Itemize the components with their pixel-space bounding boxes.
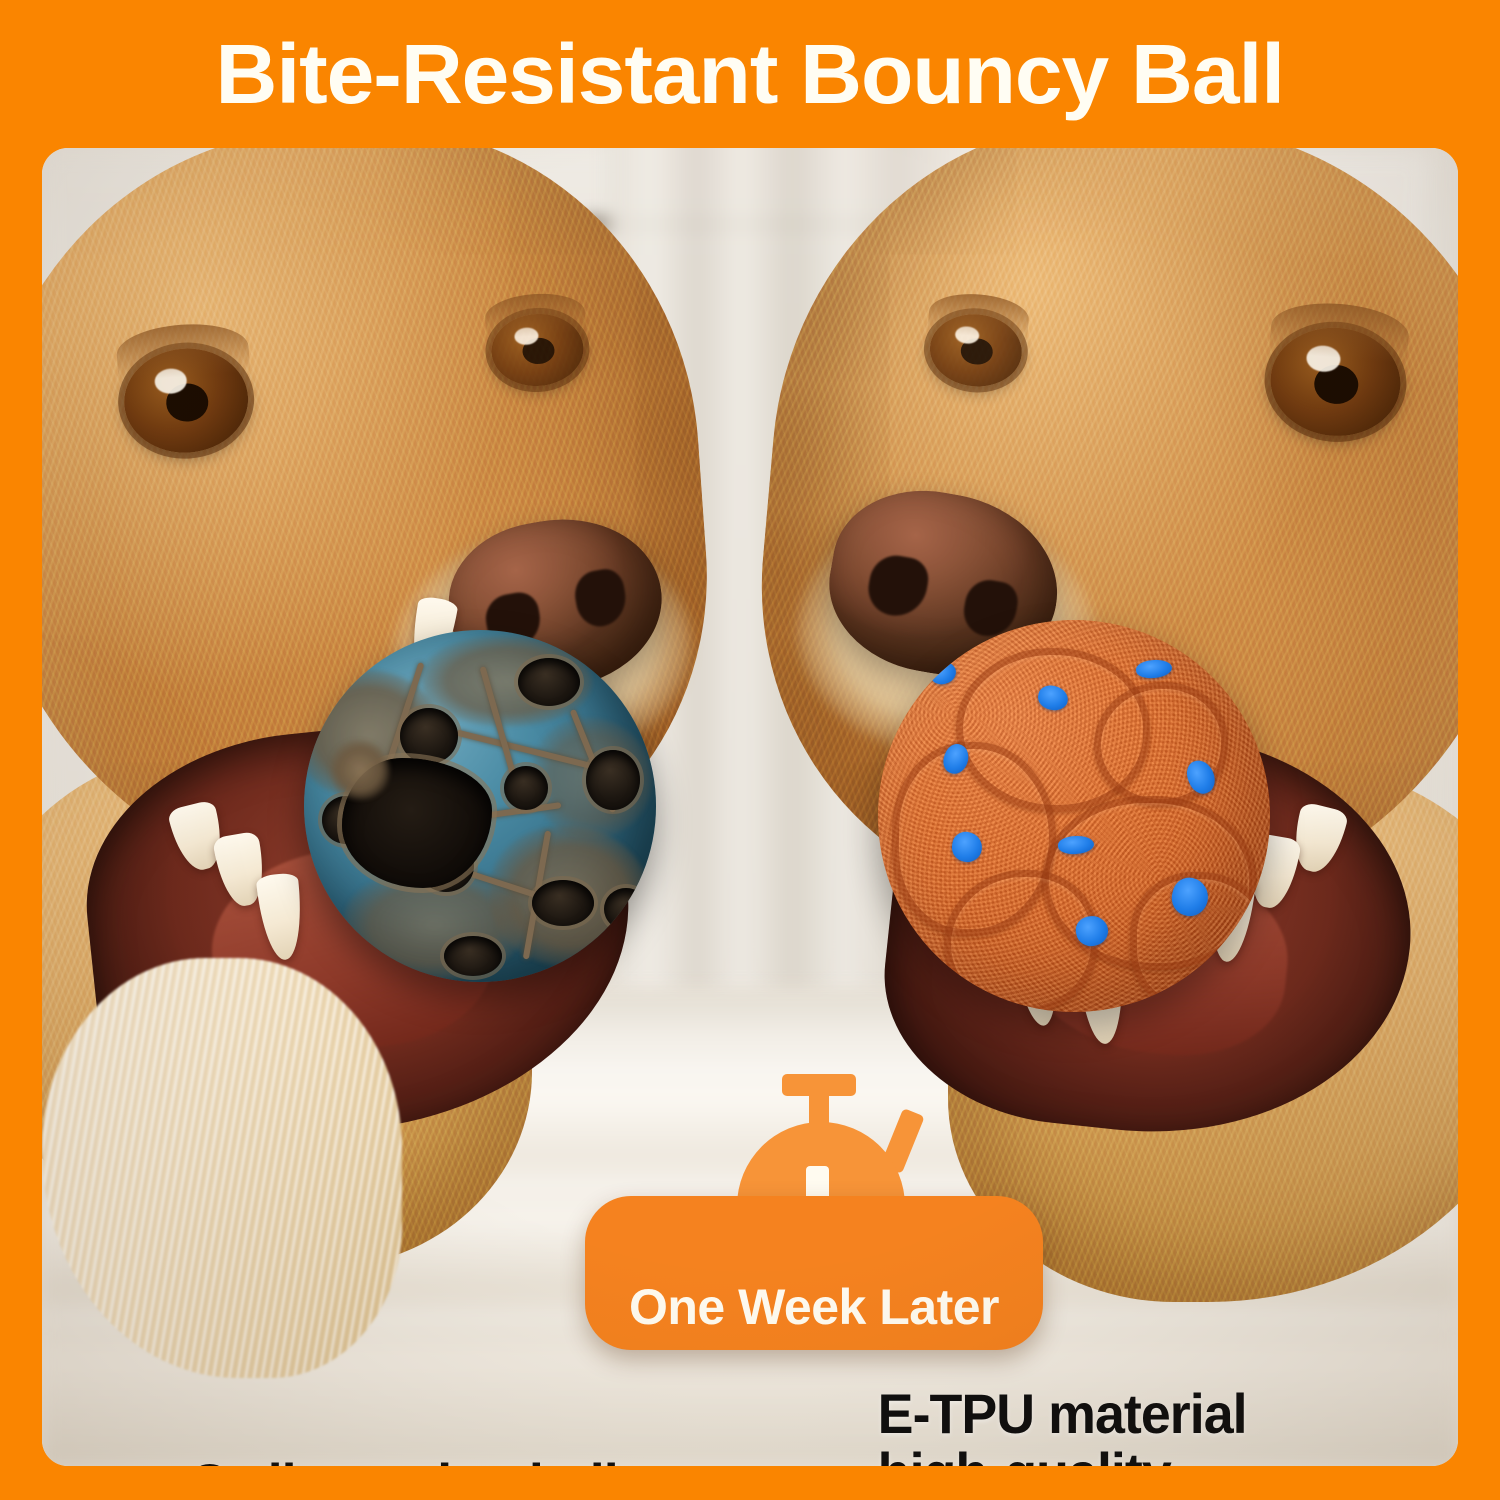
left-caption: Ordinary dog ball <box>189 1454 618 1466</box>
ball-hole <box>518 658 580 706</box>
ball-hole <box>586 750 640 810</box>
ball-hole <box>504 766 548 810</box>
ball-hole <box>444 936 502 976</box>
ball-hole <box>400 708 458 764</box>
comparison-photo-panel: One Week Later Ordinary dog ball E-TPU m… <box>42 148 1458 1466</box>
ball-groove <box>944 870 1098 1012</box>
damaged-blue-ball <box>304 630 656 982</box>
page-title: Bite-Resistant Bouncy Ball <box>216 32 1284 116</box>
right-caption: E-TPU material high-quality chew-resista… <box>878 1384 1247 1466</box>
right-caption-line-2: high-quality <box>878 1443 1247 1466</box>
badge-pill: One Week Later <box>585 1196 1043 1350</box>
ball-hole <box>604 888 648 930</box>
title-bar: Bite-Resistant Bouncy Ball <box>0 0 1500 148</box>
badge-label: One Week Later <box>629 1282 999 1332</box>
one-week-later-badge: One Week Later <box>585 1074 1043 1350</box>
right-caption-line-1: E-TPU material <box>878 1384 1247 1443</box>
ball-hole <box>532 880 594 926</box>
intact-orange-etpu-ball <box>878 620 1270 1012</box>
product-image-canvas: Bite-Resistant Bouncy Ball <box>0 0 1500 1500</box>
